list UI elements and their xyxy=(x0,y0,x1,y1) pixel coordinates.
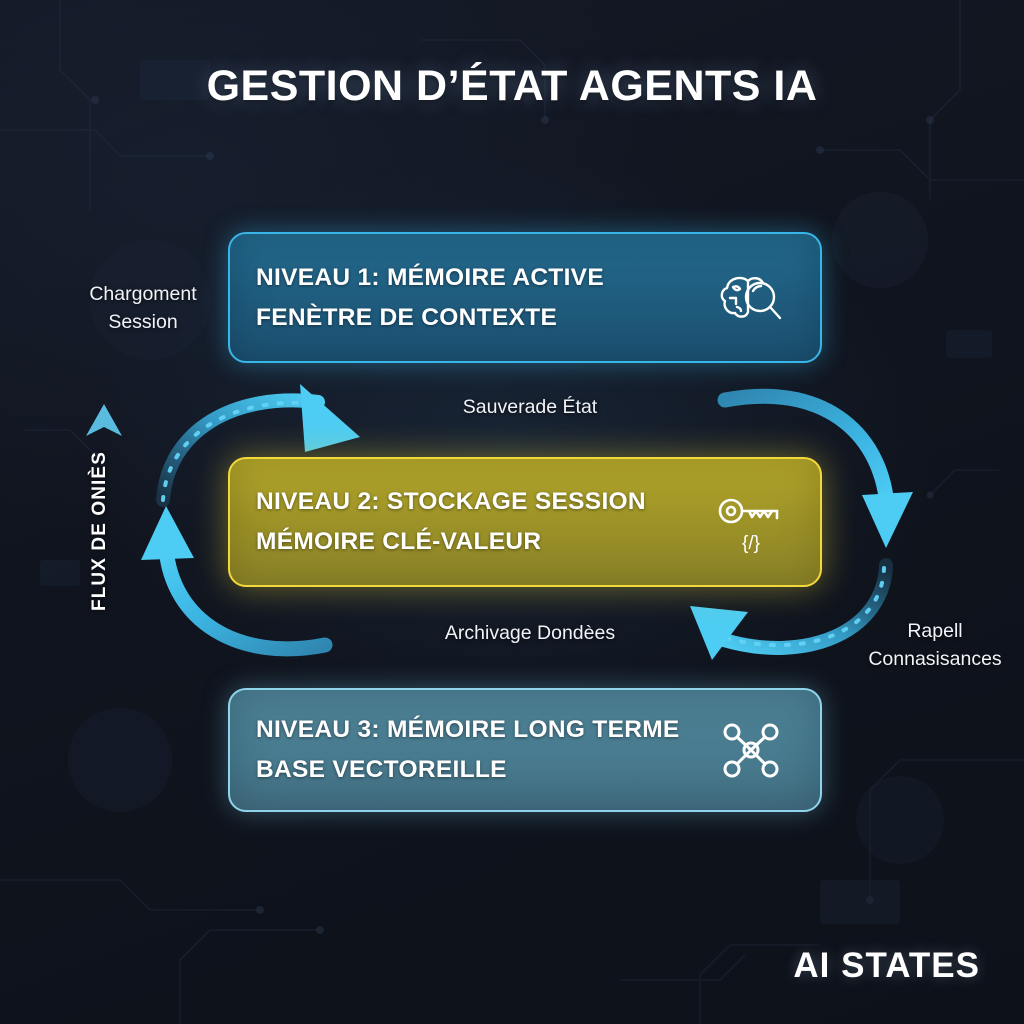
flow-label-rapell-line-1: Rapell xyxy=(845,618,1024,646)
flow-label-sauverade-etat: Sauverade État xyxy=(400,394,660,422)
tier-2-line-2: MÉMOIRE CLÉ-VALEUR xyxy=(256,522,708,562)
flow-label-archivage-donnees: Archivage Dondèes xyxy=(395,620,665,648)
svg-text:{/}: {/} xyxy=(742,533,760,554)
infographic-canvas: GESTION D’ÉTAT AGENTS IA xyxy=(0,0,1024,1024)
flux-axis: FLUX DE ONIÈS xyxy=(58,395,128,685)
node-network-icon xyxy=(708,719,794,781)
key-code-icon: {/} xyxy=(708,489,794,555)
tier-card-niveau-1[interactable]: NIVEAU 1: MÉMOIRE ACTIVE FENÈTRE DE CONT… xyxy=(228,232,822,363)
page-title: GESTION D’ÉTAT AGENTS IA xyxy=(0,62,1024,111)
tier-1-text: NIVEAU 1: MÉMOIRE ACTIVE FENÈTRE DE CONT… xyxy=(256,258,708,337)
tier-1-line-1: NIVEAU 1: MÉMOIRE ACTIVE xyxy=(256,258,708,298)
tier-3-text: NIVEAU 3: MÉMOIRE LONG TERME BASE VECTOR… xyxy=(256,710,708,789)
flow-label-chargement-line-1: Chargoment xyxy=(55,281,231,309)
tier-2-line-1: NIVEAU 2: STOCKAGE SESSION xyxy=(256,482,708,522)
tier-3-line-1: NIVEAU 3: MÉMOIRE LONG TERME xyxy=(256,710,708,750)
flow-label-chargement-line-2: Session xyxy=(55,309,231,337)
tier-2-text: NIVEAU 2: STOCKAGE SESSION MÉMOIRE CLÉ-V… xyxy=(256,482,708,561)
tier-1-line-2: FENÈTRE DE CONTEXTE xyxy=(256,298,708,338)
brand-logo: AI STATES xyxy=(793,946,980,986)
tier-card-niveau-2[interactable]: NIVEAU 2: STOCKAGE SESSION MÉMOIRE CLÉ-V… xyxy=(228,457,822,587)
flow-label-rapell-line-2: Connasisances xyxy=(845,646,1024,674)
flow-label-rapell-connaissances: Rapell Connasisances xyxy=(845,618,1024,673)
tier-3-line-2: BASE VECTOREILLE xyxy=(256,750,708,790)
tier-card-niveau-3[interactable]: NIVEAU 3: MÉMOIRE LONG TERME BASE VECTOR… xyxy=(228,688,822,812)
flow-label-chargement-session: Chargoment Session xyxy=(55,281,231,336)
brain-magnifier-icon xyxy=(708,267,794,329)
flux-axis-label: FLUX DE ONIÈS xyxy=(89,411,111,651)
